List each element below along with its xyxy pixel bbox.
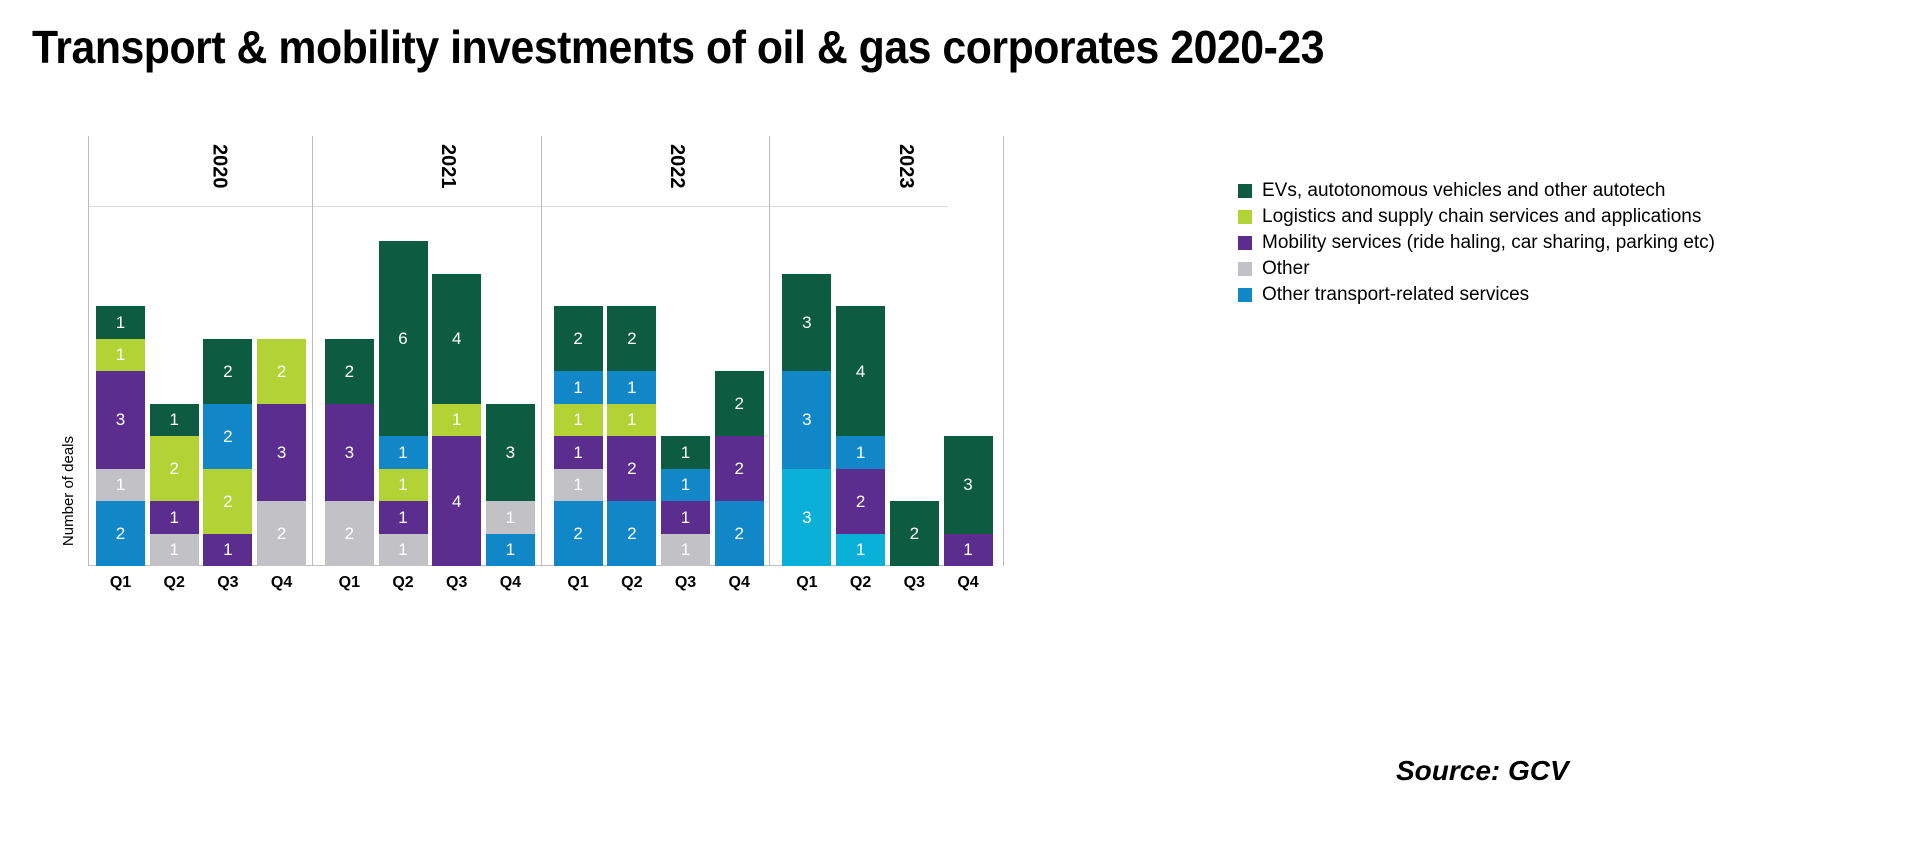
bar-segment-value: 2	[223, 363, 232, 380]
bar-segment-value: 1	[398, 444, 407, 461]
bar-segment[interactable]: 2	[150, 436, 199, 501]
bar-segment[interactable]: 2	[203, 404, 252, 469]
bar-segment[interactable]: 1	[486, 501, 535, 534]
bar-segment-value: 1	[856, 541, 865, 558]
bar-segment[interactable]: 1	[607, 371, 656, 404]
bar-segment[interactable]: 2	[325, 339, 374, 404]
legend-swatch-icon	[1238, 288, 1252, 302]
bar-segment[interactable]: 2	[836, 469, 885, 534]
bar-segment-value: 2	[734, 460, 743, 477]
legend-item-2[interactable]: Mobility services (ride haling, car shar…	[1238, 230, 1715, 256]
bar-segment-value: 3	[802, 509, 811, 526]
legend-swatch-icon	[1238, 184, 1252, 198]
bar-segment-value: 1	[506, 509, 515, 526]
bar-segment-value: 3	[277, 444, 286, 461]
bar-segment-value: 2	[223, 493, 232, 510]
bar-segment[interactable]: 1	[150, 404, 199, 437]
bar-segment-value: 3	[506, 444, 515, 461]
legend-swatch-icon	[1238, 262, 1252, 276]
year-separator	[769, 136, 770, 566]
bar-segment[interactable]: 2	[715, 436, 764, 501]
year-label-2020: 2020	[207, 144, 230, 189]
bar-2020-Q1[interactable]: 21311	[96, 306, 145, 566]
bar-segment-value: 1	[506, 541, 515, 558]
bar-segment[interactable]: 1	[379, 436, 428, 469]
bar-2020-Q4[interactable]: 232	[257, 339, 306, 567]
bar-segment[interactable]: 1	[554, 371, 603, 404]
bar-2022-Q1[interactable]: 211112	[554, 306, 603, 566]
bar-segment[interactable]: 2	[554, 306, 603, 371]
bar-segment-value: 2	[345, 363, 354, 380]
bar-segment-value: 1	[169, 541, 178, 558]
bar-segment[interactable]: 4	[432, 436, 481, 566]
x-tick-2: Q3	[203, 574, 252, 592]
year-label-2023: 2023	[894, 144, 917, 189]
bar-series-container: 2131111211222232232111164141132111122211…	[88, 136, 948, 566]
legend-item-label: Other	[1262, 258, 1310, 280]
y-axis-title: Number of deals	[60, 436, 77, 546]
bar-segment[interactable]: 1	[554, 404, 603, 437]
bar-segment[interactable]: 1	[432, 404, 481, 437]
bar-segment-value: 1	[681, 476, 690, 493]
bar-2023-Q1[interactable]: 333	[782, 274, 831, 567]
bar-segment[interactable]: 6	[379, 241, 428, 436]
bar-segment[interactable]: 1	[96, 306, 145, 339]
bar-segment-value: 1	[627, 379, 636, 396]
bar-segment[interactable]: 3	[325, 404, 374, 502]
bar-segment-value: 1	[116, 346, 125, 363]
bar-segment-value: 1	[573, 444, 582, 461]
bar-segment[interactable]: 2	[257, 501, 306, 566]
bar-segment-value: 4	[452, 330, 461, 347]
bar-segment-value: 1	[856, 444, 865, 461]
x-tick-3: Q4	[257, 574, 306, 592]
x-tick-11: Q4	[715, 574, 764, 592]
year-separator	[541, 136, 542, 566]
bar-segment[interactable]: 2	[96, 501, 145, 566]
bar-segment[interactable]: 2	[715, 371, 764, 436]
year-label-2021: 2021	[436, 144, 459, 189]
bar-segment-value: 1	[223, 541, 232, 558]
bar-2021-Q1[interactable]: 232	[325, 339, 374, 567]
bar-segment[interactable]: 3	[944, 436, 993, 534]
bar-segment[interactable]: 2	[607, 501, 656, 566]
bar-segment-value: 3	[802, 314, 811, 331]
bar-segment[interactable]: 3	[782, 469, 831, 567]
bar-segment-value: 2	[856, 493, 865, 510]
bar-segment-value: 4	[856, 363, 865, 380]
bar-2023-Q3[interactable]: 2	[890, 501, 939, 566]
bar-segment-value: 1	[116, 476, 125, 493]
x-tick-14: Q3	[890, 574, 939, 592]
bar-segment-value: 1	[681, 541, 690, 558]
bar-segment[interactable]: 3	[782, 371, 831, 469]
bar-segment[interactable]: 1	[379, 501, 428, 534]
bar-segment[interactable]: 1	[836, 534, 885, 567]
chart-legend: EVs, autotonomous vehicles and other aut…	[1238, 178, 1715, 308]
bar-segment[interactable]: 1	[203, 534, 252, 567]
bar-segment-value: 2	[573, 330, 582, 347]
x-tick-1: Q2	[150, 574, 199, 592]
bar-segment[interactable]: 2	[554, 501, 603, 566]
bar-segment-value: 1	[398, 476, 407, 493]
plot-canvas: 2131111211222232232111164141132111122211…	[88, 136, 948, 566]
bar-segment-value: 1	[681, 509, 690, 526]
bar-segment-value: 2	[910, 525, 919, 542]
bar-2022-Q3[interactable]: 1111	[661, 436, 710, 566]
bar-segment-value: 1	[573, 379, 582, 396]
bar-2020-Q2[interactable]: 1121	[150, 404, 199, 567]
bar-segment[interactable]: 1	[836, 436, 885, 469]
bar-segment-value: 1	[627, 411, 636, 428]
bar-segment[interactable]: 1	[661, 469, 710, 502]
bar-segment-value: 1	[573, 476, 582, 493]
year-separator	[312, 136, 313, 566]
bar-segment-value: 2	[223, 428, 232, 445]
bar-segment-value: 1	[452, 411, 461, 428]
bar-segment[interactable]: 3	[782, 274, 831, 372]
bar-segment[interactable]: 1	[554, 436, 603, 469]
bar-segment-value: 1	[398, 541, 407, 558]
bar-segment-value: 2	[345, 525, 354, 542]
bar-segment-value: 1	[169, 411, 178, 428]
x-tick-0: Q1	[96, 574, 145, 592]
bar-segment[interactable]: 2	[257, 339, 306, 404]
bar-segment[interactable]: 1	[661, 436, 710, 469]
bar-segment-value: 3	[116, 411, 125, 428]
bar-2023-Q2[interactable]: 1214	[836, 306, 885, 566]
bar-segment[interactable]: 3	[257, 404, 306, 502]
bar-2021-Q4[interactable]: 113	[486, 404, 535, 567]
bar-segment[interactable]: 2	[203, 469, 252, 534]
x-tick-8: Q1	[554, 574, 603, 592]
legend-item-0[interactable]: EVs, autotonomous vehicles and other aut…	[1238, 178, 1715, 204]
bar-segment-value: 2	[734, 525, 743, 542]
bar-segment-value: 2	[627, 525, 636, 542]
bar-segment[interactable]: 3	[96, 371, 145, 469]
bar-segment[interactable]: 4	[432, 274, 481, 404]
bar-segment-value: 1	[963, 541, 972, 558]
bar-segment[interactable]: 1	[150, 534, 199, 567]
bar-segment[interactable]: 1	[661, 534, 710, 567]
year-label-2022: 2022	[665, 144, 688, 189]
bar-segment-value: 4	[452, 493, 461, 510]
bar-segment[interactable]: 1	[554, 469, 603, 502]
bar-segment[interactable]: 2	[607, 436, 656, 501]
bar-segment-value: 2	[277, 363, 286, 380]
bar-segment-value: 2	[169, 460, 178, 477]
x-tick-6: Q3	[432, 574, 481, 592]
bar-segment[interactable]: 2	[607, 306, 656, 371]
x-tick-5: Q2	[379, 574, 428, 592]
plot-right-border	[1003, 136, 1004, 566]
bar-2020-Q3[interactable]: 1222	[203, 339, 252, 567]
bar-segment-value: 1	[169, 509, 178, 526]
bar-2022-Q4[interactable]: 222	[715, 371, 764, 566]
bar-2023-Q4[interactable]: 13	[944, 436, 993, 566]
x-tick-4: Q1	[325, 574, 374, 592]
bar-segment[interactable]: 2	[203, 339, 252, 404]
bar-segment-value: 1	[398, 509, 407, 526]
bar-segment[interactable]: 1	[486, 534, 535, 567]
bar-segment[interactable]: 1	[379, 469, 428, 502]
bar-2021-Q3[interactable]: 414	[432, 274, 481, 567]
source-note: Source: GCV	[1396, 755, 1569, 787]
legend-item-1[interactable]: Logistics and supply chain services and …	[1238, 204, 1715, 230]
page-title: Transport & mobility investments of oil …	[32, 20, 1324, 74]
legend-item-label: EVs, autotonomous vehicles and other aut…	[1262, 180, 1665, 202]
bar-segment[interactable]: 4	[836, 306, 885, 436]
bar-segment-value: 3	[345, 444, 354, 461]
legend-item-4[interactable]: Other transport-related services	[1238, 282, 1715, 308]
bar-segment-value: 2	[573, 525, 582, 542]
bar-segment[interactable]: 1	[96, 469, 145, 502]
x-tick-7: Q4	[486, 574, 535, 592]
bar-segment[interactable]: 1	[944, 534, 993, 567]
plot-left-border	[88, 136, 89, 566]
bar-segment[interactable]: 1	[150, 501, 199, 534]
legend-item-3[interactable]: Other	[1238, 256, 1715, 282]
bar-segment-value: 2	[116, 525, 125, 542]
x-tick-13: Q2	[836, 574, 885, 592]
bar-segment[interactable]: 1	[379, 534, 428, 567]
bar-segment-value: 2	[627, 330, 636, 347]
x-tick-9: Q2	[607, 574, 656, 592]
bar-2021-Q2[interactable]: 11116	[379, 241, 428, 566]
bar-segment-value: 2	[627, 460, 636, 477]
legend-item-label: Logistics and supply chain services and …	[1262, 206, 1701, 228]
bar-segment[interactable]: 2	[715, 501, 764, 566]
x-tick-12: Q1	[782, 574, 831, 592]
bar-segment[interactable]: 1	[96, 339, 145, 372]
chart-plot-area: Number of deals 213111121122223223211116…	[36, 136, 1136, 566]
x-tick-15: Q4	[944, 574, 993, 592]
bar-segment-value: 1	[573, 411, 582, 428]
legend-item-label: Other transport-related services	[1262, 284, 1529, 306]
bar-segment-value: 3	[802, 411, 811, 428]
legend-swatch-icon	[1238, 210, 1252, 224]
bar-segment-value: 6	[398, 330, 407, 347]
legend-swatch-icon	[1238, 236, 1252, 250]
bar-segment-value: 2	[734, 395, 743, 412]
bar-segment[interactable]: 2	[890, 501, 939, 566]
bar-segment-value: 1	[681, 444, 690, 461]
bar-2022-Q2[interactable]: 22112	[607, 306, 656, 566]
x-tick-10: Q3	[661, 574, 710, 592]
bar-segment[interactable]: 1	[661, 501, 710, 534]
legend-item-label: Mobility services (ride haling, car shar…	[1262, 232, 1715, 254]
bar-segment-value: 2	[277, 525, 286, 542]
bar-segment[interactable]: 3	[486, 404, 535, 502]
bar-segment-value: 3	[963, 476, 972, 493]
bar-segment-value: 1	[116, 314, 125, 331]
bar-segment[interactable]: 2	[325, 501, 374, 566]
bar-segment[interactable]: 1	[607, 404, 656, 437]
